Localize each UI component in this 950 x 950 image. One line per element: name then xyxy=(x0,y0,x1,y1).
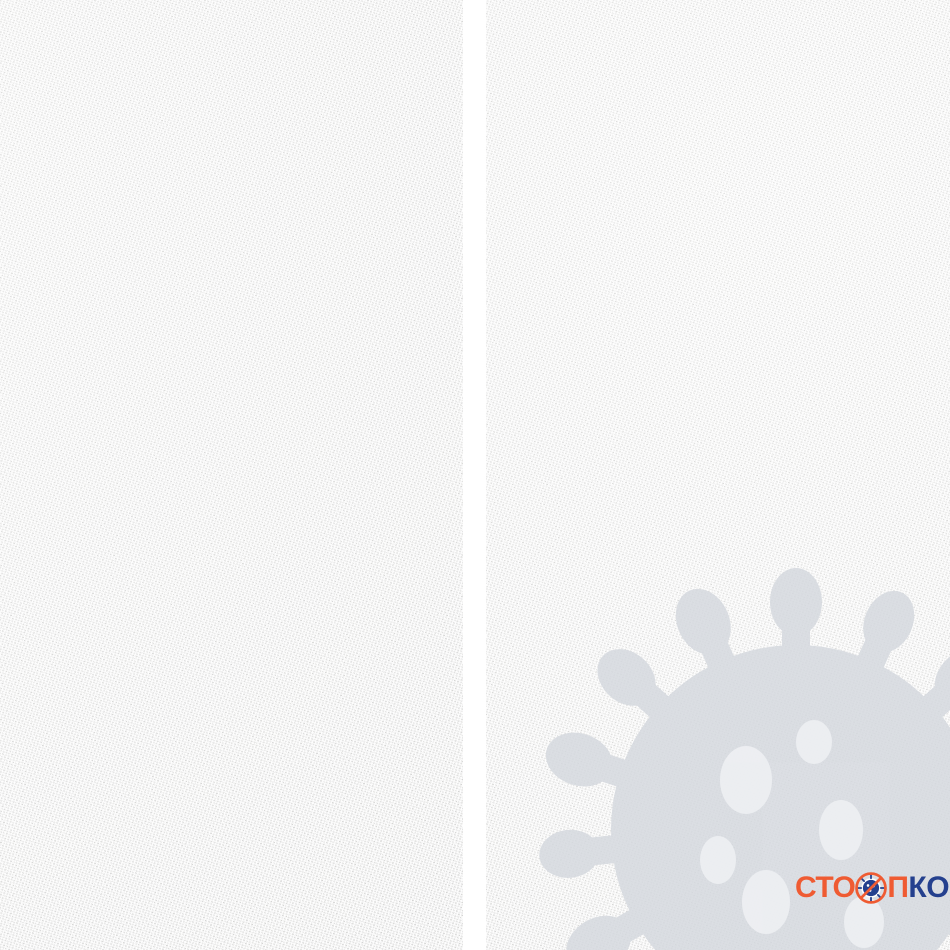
right-panel-content: Влияет ли вакцинация на заболеваемость С… xyxy=(486,0,950,950)
left-panel-card: вакцины «Совигрипп», », «Ультрикс Квадри… xyxy=(0,0,463,950)
logo-right-prefix: СТО xyxy=(795,873,855,903)
infographic-canvas: вакцины «Совигрипп», », «Ультрикс Квадри… xyxy=(0,0,950,950)
left-panel-content: вакцины «Совигрипп», », «Ультрикс Квадри… xyxy=(0,0,463,950)
right-panel-card: Влияет ли вакцинация на заболеваемость С… xyxy=(486,0,950,950)
stop-virus-icon xyxy=(854,871,888,905)
logo-right-letter-p: П xyxy=(887,873,908,903)
logo-right-suffix: КОРО xyxy=(908,873,950,903)
stopkoronavirus-logo-right[interactable]: СТО xyxy=(795,866,950,910)
